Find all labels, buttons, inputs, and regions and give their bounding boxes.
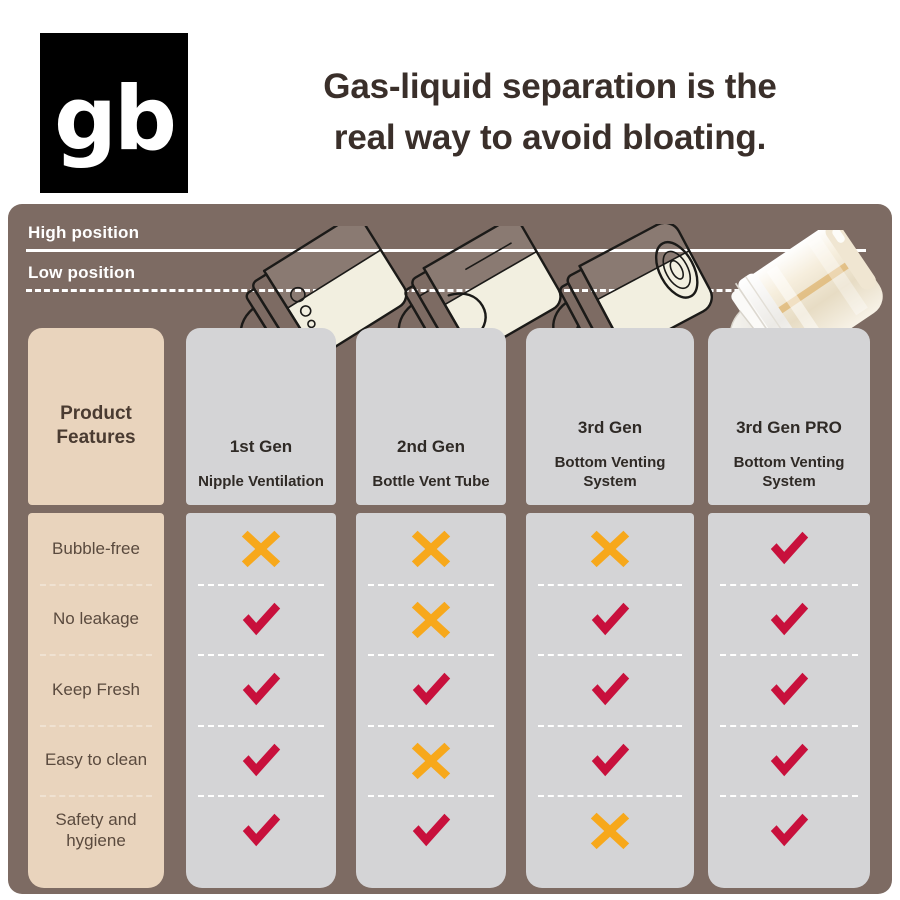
column-title: 1st Gen bbox=[230, 437, 292, 457]
low-position-label: Low position bbox=[28, 263, 135, 283]
column-header: 2nd GenBottle Vent Tube bbox=[356, 328, 506, 505]
headline-line-2: real way to avoid bloating. bbox=[210, 113, 890, 164]
column-subtitle: Bottom Venting System bbox=[708, 453, 870, 491]
check-icon bbox=[766, 737, 812, 783]
feature-row-label: Bubble-free bbox=[28, 513, 164, 584]
cross-icon bbox=[587, 807, 633, 853]
mark-cell bbox=[186, 513, 336, 584]
mark-cell bbox=[526, 513, 694, 584]
check-icon bbox=[766, 525, 812, 571]
check-icon bbox=[587, 666, 633, 712]
mark-cell bbox=[708, 654, 870, 725]
mark-cell bbox=[526, 725, 694, 796]
page-header: gb Gas-liquid separation is the real way… bbox=[0, 0, 900, 204]
mark-cell bbox=[526, 584, 694, 655]
mark-cell bbox=[526, 795, 694, 866]
feature-row-label: Safety and hygiene bbox=[28, 795, 164, 866]
page-title: Gas-liquid separation is the real way to… bbox=[210, 62, 890, 164]
column-title: 2nd Gen bbox=[397, 437, 465, 457]
column-title: 3rd Gen bbox=[578, 418, 642, 438]
check-icon bbox=[408, 666, 454, 712]
feature-row-label: No leakage bbox=[28, 584, 164, 655]
mark-cell bbox=[356, 725, 506, 796]
mark-cell bbox=[356, 584, 506, 655]
mark-cell bbox=[186, 725, 336, 796]
product-features-title-line1: Product bbox=[60, 403, 132, 424]
headline-line-1: Gas-liquid separation is the bbox=[210, 62, 890, 113]
check-icon bbox=[766, 666, 812, 712]
column-subtitle: Nipple Ventilation bbox=[195, 472, 327, 491]
check-icon bbox=[587, 596, 633, 642]
column-header: 1st GenNipple Ventilation bbox=[186, 328, 336, 505]
comparison-table: Product Features Bubble-free No leakage … bbox=[8, 328, 892, 888]
product-features-title: Product Features bbox=[56, 402, 135, 451]
mark-cell bbox=[356, 513, 506, 584]
feature-row-label: Keep Fresh bbox=[28, 654, 164, 725]
mark-cell bbox=[708, 795, 870, 866]
mark-cell bbox=[186, 584, 336, 655]
check-icon bbox=[238, 807, 284, 853]
product-features-rows: Bubble-free No leakage Keep Fresh Easy t… bbox=[28, 513, 164, 888]
column-header: 3rd Gen PROBottom Venting System bbox=[708, 328, 870, 505]
column-header: 3rd GenBottom Venting System bbox=[526, 328, 694, 505]
mark-cell bbox=[356, 654, 506, 725]
column-subtitle: Bottom Venting System bbox=[526, 453, 694, 491]
cross-icon bbox=[408, 737, 454, 783]
column-marks bbox=[526, 513, 694, 888]
feature-row-label: Easy to clean bbox=[28, 725, 164, 796]
mark-cell bbox=[708, 725, 870, 796]
check-icon bbox=[766, 807, 812, 853]
mark-cell bbox=[708, 584, 870, 655]
low-position-line bbox=[26, 289, 866, 292]
product-features-header: Product Features bbox=[28, 328, 164, 505]
cross-icon bbox=[238, 525, 284, 571]
column-marks bbox=[356, 513, 506, 888]
column-subtitle: Bottle Vent Tube bbox=[369, 472, 492, 491]
comparison-panel: High position Low position bbox=[8, 204, 892, 894]
column-marks bbox=[708, 513, 870, 888]
check-icon bbox=[238, 737, 284, 783]
product-features-title-line2: Features bbox=[56, 427, 135, 448]
check-icon bbox=[766, 596, 812, 642]
cross-icon bbox=[408, 525, 454, 571]
brand-logo-text: gb bbox=[54, 75, 174, 163]
mark-cell bbox=[356, 795, 506, 866]
column-marks bbox=[186, 513, 336, 888]
check-icon bbox=[587, 737, 633, 783]
cross-icon bbox=[408, 596, 454, 642]
check-icon bbox=[408, 807, 454, 853]
mark-cell bbox=[526, 654, 694, 725]
high-position-label: High position bbox=[28, 223, 139, 243]
mark-cell bbox=[186, 654, 336, 725]
mark-cell bbox=[186, 795, 336, 866]
check-icon bbox=[238, 596, 284, 642]
column-title: 3rd Gen PRO bbox=[736, 418, 842, 438]
high-position-line bbox=[26, 249, 866, 252]
brand-logo: gb bbox=[40, 33, 188, 193]
mark-cell bbox=[708, 513, 870, 584]
cross-icon bbox=[587, 525, 633, 571]
check-icon bbox=[238, 666, 284, 712]
